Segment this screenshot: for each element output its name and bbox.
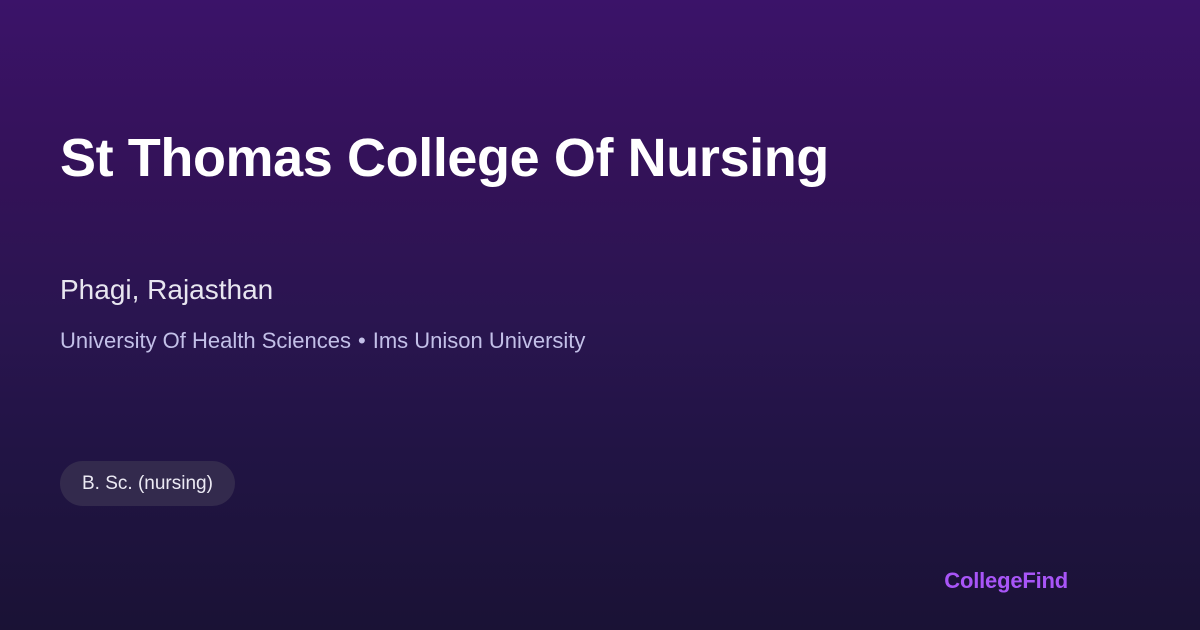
- affiliation-separator-bullet: •: [351, 326, 373, 356]
- degree-tag-list: B. Sc. (nursing): [60, 461, 235, 506]
- brand-logo-collegefind: CollegeFind: [944, 568, 1068, 594]
- degree-tag-bsc-nursing: B. Sc. (nursing): [60, 461, 235, 506]
- affiliation-university-primary: University Of Health Sciences: [60, 328, 351, 353]
- page-title: St Thomas College Of Nursing: [60, 128, 1060, 188]
- affiliation-university-secondary: Ims Unison University: [373, 328, 586, 353]
- card-content: St Thomas College Of Nursing Phagi, Raja…: [60, 0, 1140, 630]
- affiliation-line: University Of Health Sciences•Ims Unison…: [60, 326, 585, 356]
- college-location: Phagi, Rajasthan: [60, 272, 273, 308]
- og-share-card: St Thomas College Of Nursing Phagi, Raja…: [0, 0, 1200, 630]
